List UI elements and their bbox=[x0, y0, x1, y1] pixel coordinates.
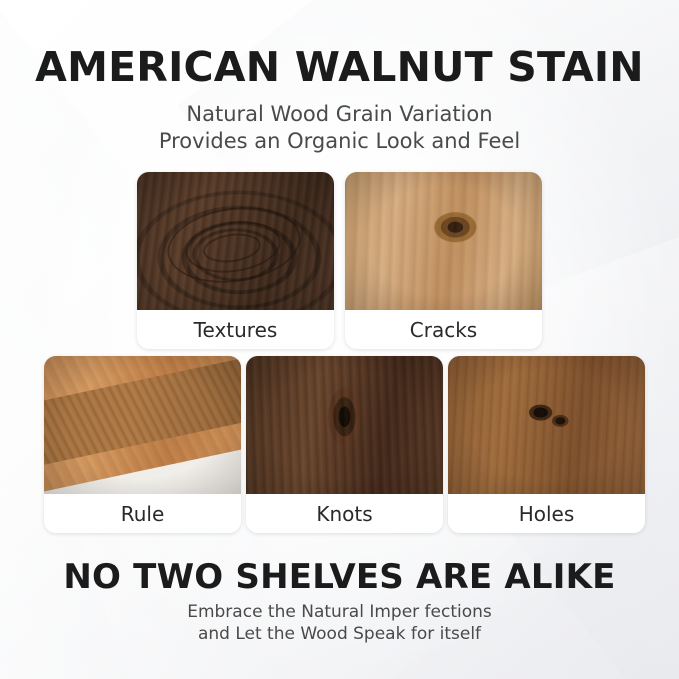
card-caption-rule: Rule bbox=[44, 494, 241, 533]
feature-card-rule: Rule bbox=[44, 356, 241, 533]
card-caption-holes: Holes bbox=[448, 494, 645, 533]
wood-texture-two-tone-plank bbox=[44, 356, 241, 494]
wood-texture-dark-knot bbox=[246, 356, 443, 494]
feature-card-holes: Holes bbox=[448, 356, 645, 533]
bottom-title: NO TWO SHELVES ARE ALIKE bbox=[0, 557, 679, 597]
bottom-subtitle-line-2: and Let the Wood Speak for itself bbox=[0, 623, 679, 645]
subtitle-line-2: Provides an Organic Look and Feel bbox=[0, 128, 679, 154]
knots-photo bbox=[246, 356, 443, 494]
bottom-subtitle-line-1: Embrace the Natural Imper fections bbox=[0, 601, 679, 623]
feature-card-cracks: Cracks bbox=[345, 172, 542, 349]
feature-card-knots: Knots bbox=[246, 356, 443, 533]
wood-texture-light-knot bbox=[345, 172, 542, 310]
wood-texture-holes bbox=[448, 356, 645, 494]
product-feature-poster: AMERICAN WALNUT STAIN Natural Wood Grain… bbox=[0, 0, 679, 679]
feature-card-textures: Textures bbox=[137, 172, 334, 349]
card-caption-knots: Knots bbox=[246, 494, 443, 533]
card-caption-cracks: Cracks bbox=[345, 310, 542, 349]
subtitle-line-1: Natural Wood Grain Variation bbox=[0, 101, 679, 127]
page-title: AMERICAN WALNUT STAIN bbox=[0, 46, 679, 89]
holes-photo bbox=[448, 356, 645, 494]
cracks-photo bbox=[345, 172, 542, 310]
rule-photo bbox=[44, 356, 241, 494]
textures-photo bbox=[137, 172, 334, 310]
card-caption-textures: Textures bbox=[137, 310, 334, 349]
